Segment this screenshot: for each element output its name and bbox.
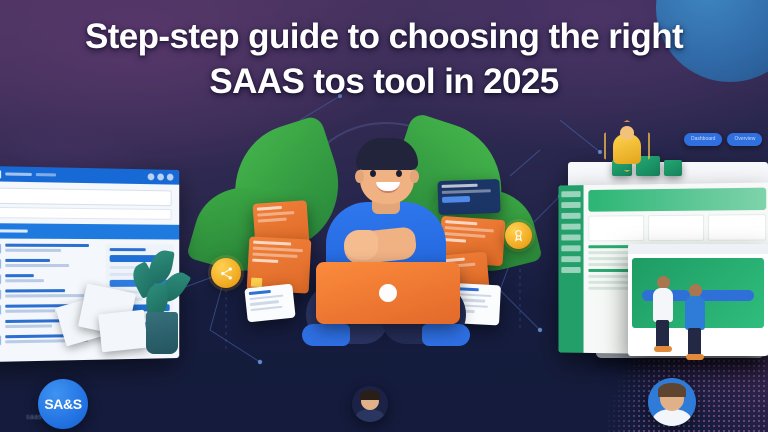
front-panel-button-right[interactable] (698, 290, 754, 301)
plant-pot (146, 312, 178, 354)
item-icon (0, 335, 1, 345)
pill-overview[interactable]: Overview (727, 133, 762, 146)
illustration-figure-blue (684, 284, 706, 354)
logo-badge[interactable]: SA&S (38, 379, 88, 429)
left-dashboard-section-title (0, 223, 179, 239)
list-item[interactable] (0, 259, 101, 269)
decor-gold-figure (604, 120, 650, 172)
metric-card[interactable] (648, 215, 705, 241)
illustration-person (300, 134, 472, 362)
hero-banner: Step-step guide to choosing the right SA… (0, 0, 768, 432)
pill-dashboard[interactable]: Dashboard (684, 133, 722, 146)
sidebar-item[interactable] (561, 245, 580, 251)
sidebar-item[interactable] (561, 213, 580, 219)
award-icon (505, 222, 532, 249)
title-line-1: Step-step guide to choosing the right (0, 14, 768, 59)
list-item[interactable] (0, 244, 101, 254)
sidebar-item[interactable] (561, 267, 580, 273)
illustration-figure-white (652, 276, 674, 354)
footer-caption: saas (26, 414, 42, 421)
sidebar-item[interactable] (561, 202, 580, 208)
top-right-pill-group: Dashboard Overview (684, 133, 762, 146)
left-dashboard-search[interactable] (0, 188, 172, 207)
laptop (316, 262, 460, 324)
sidebar-item[interactable] (561, 191, 580, 197)
logo-badge-label: SA&S (44, 396, 81, 412)
share-icon (211, 258, 241, 288)
item-icon (0, 305, 1, 315)
page-title: Step-step guide to choosing the right SA… (0, 14, 768, 104)
decor-plant (132, 250, 192, 354)
floating-card (244, 284, 295, 323)
sidebar-item[interactable] (561, 234, 580, 240)
item-icon (0, 244, 1, 254)
front-panel-titlebar (628, 244, 768, 254)
title-line-2: SAAS tos tool in 2025 (0, 59, 768, 104)
left-dashboard-filter[interactable] (0, 207, 172, 220)
decor-mini-card (664, 160, 682, 176)
left-dashboard-topbar (0, 166, 179, 185)
metric-card[interactable] (588, 215, 643, 241)
metric-card[interactable] (708, 214, 766, 241)
sidebar-item[interactable] (561, 256, 580, 262)
item-icon (0, 289, 1, 299)
right-dashboard-sidebar (558, 185, 583, 353)
avatar-right[interactable] (648, 378, 696, 426)
avatar-center[interactable] (352, 386, 388, 422)
item-icon (0, 274, 1, 284)
item-icon (0, 259, 1, 269)
right-dashboard-hero (588, 188, 766, 212)
sidebar-item[interactable] (561, 224, 580, 230)
right-dashboard-cards (588, 214, 766, 241)
